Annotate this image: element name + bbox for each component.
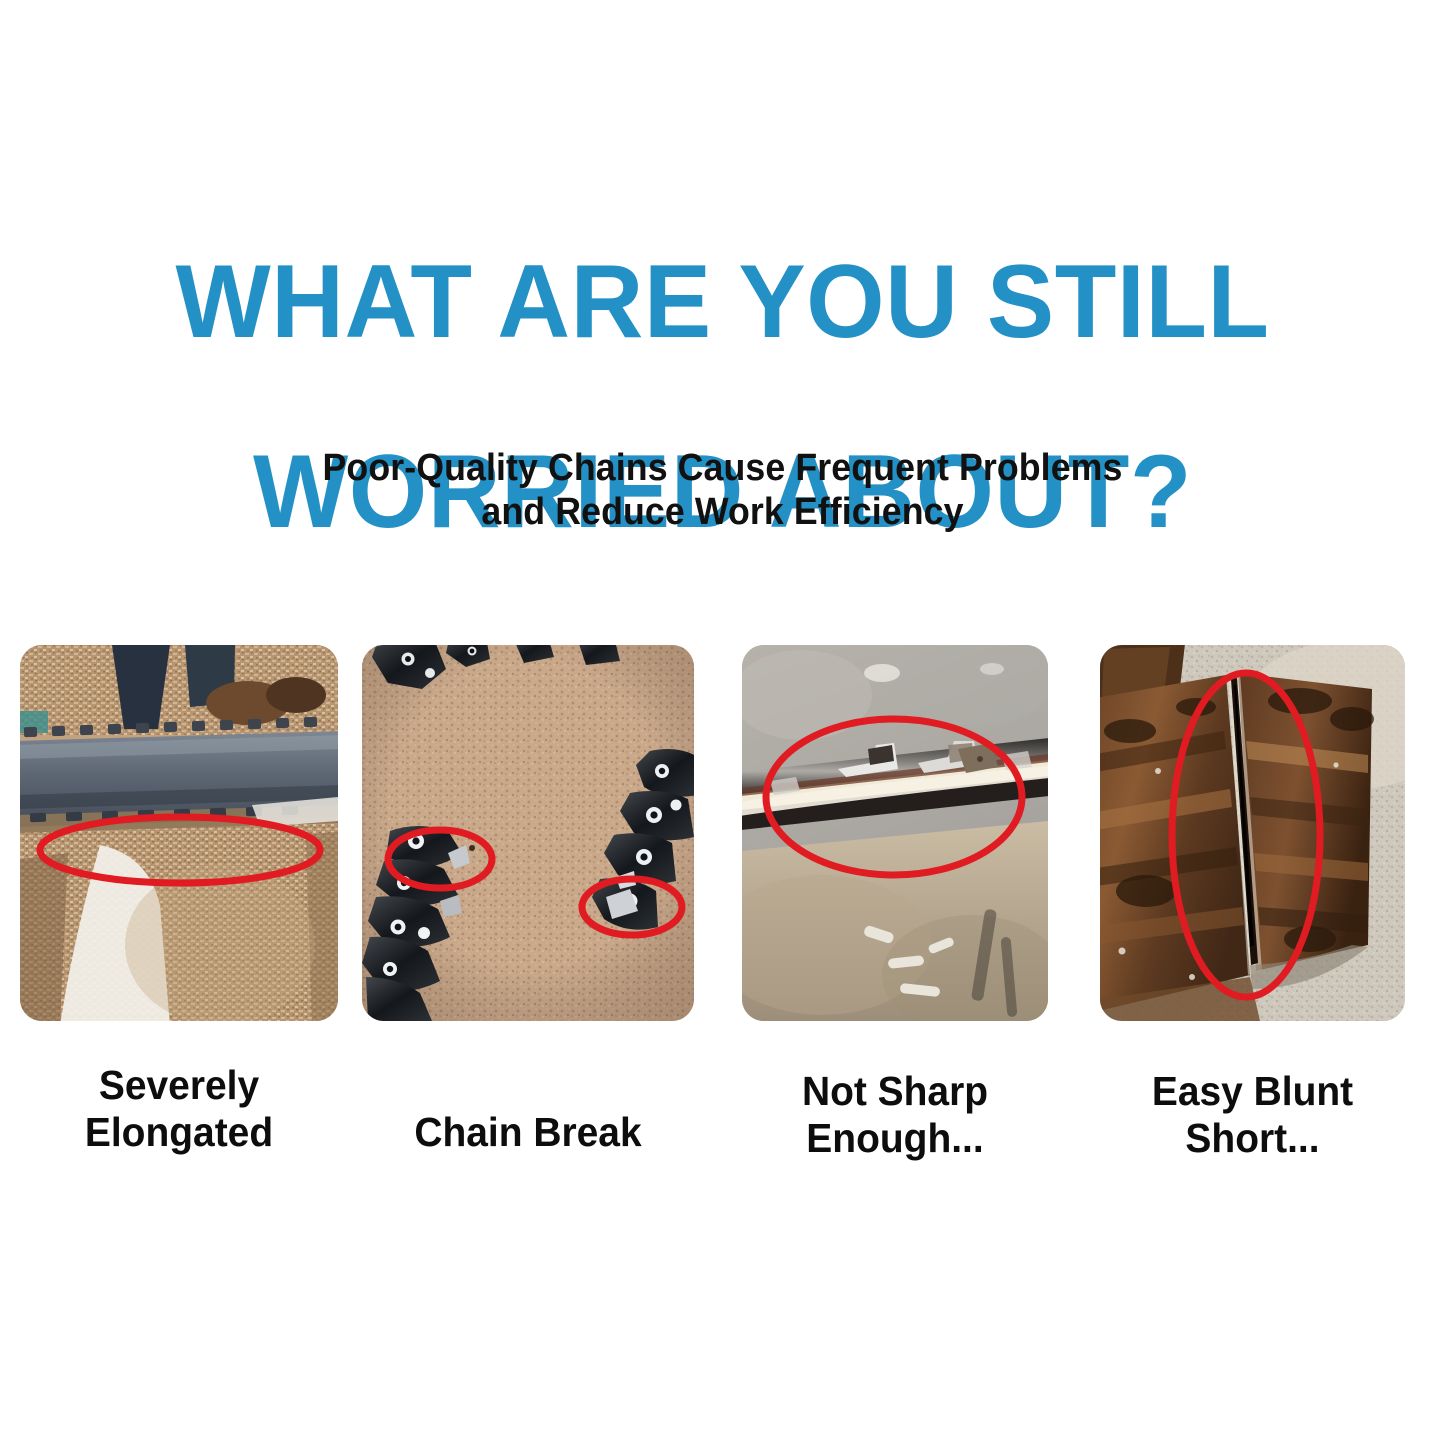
headline-line-1: WHAT ARE YOU STILL (22, 255, 1424, 350)
caption-4-line-1: Easy Blunt (1108, 1068, 1398, 1115)
subtitle-line-1: Poor-Quality Chains Cause Frequent Probl… (43, 446, 1401, 490)
caption-1-line-2: Elongated (28, 1109, 330, 1156)
subtitle-line-2: and Reduce Work Efficiency (43, 490, 1401, 534)
photo-not-sharp-enough (742, 645, 1048, 1021)
caption-4-line-2: Short... (1108, 1115, 1398, 1162)
caption-chain-break: Chain Break (370, 1062, 685, 1156)
photo-severely-elongated (20, 645, 338, 1021)
caption-1-line-1: Severely (28, 1062, 330, 1109)
problem-panel-row (0, 645, 1445, 1025)
poster-root: WHAT ARE YOU STILL WORRIED ABOUT? Poor-Q… (0, 0, 1445, 1445)
panel-severely-elongated (20, 645, 338, 1021)
panel-not-sharp-enough (742, 645, 1048, 1021)
caption-3-line-1: Not Sharp (750, 1068, 1041, 1115)
photo-chain-break (362, 645, 694, 1021)
panel-chain-break (362, 645, 694, 1021)
caption-not-sharp-enough: Not Sharp Enough... (750, 1062, 1041, 1162)
caption-easy-blunt-short: Easy Blunt Short... (1108, 1062, 1398, 1162)
caption-row: Severely Elongated Chain Break Not Sharp… (0, 1062, 1445, 1192)
headline: WHAT ARE YOU STILL WORRIED ABOUT? (22, 160, 1424, 635)
caption-2-line-1: Chain Break (370, 1109, 685, 1156)
caption-severely-elongated: Severely Elongated (28, 1062, 330, 1156)
panel-easy-blunt-short (1100, 645, 1405, 1021)
subtitle: Poor-Quality Chains Cause Frequent Probl… (43, 446, 1401, 534)
photo-easy-blunt-short (1100, 645, 1405, 1021)
caption-3-line-2: Enough... (750, 1115, 1041, 1162)
